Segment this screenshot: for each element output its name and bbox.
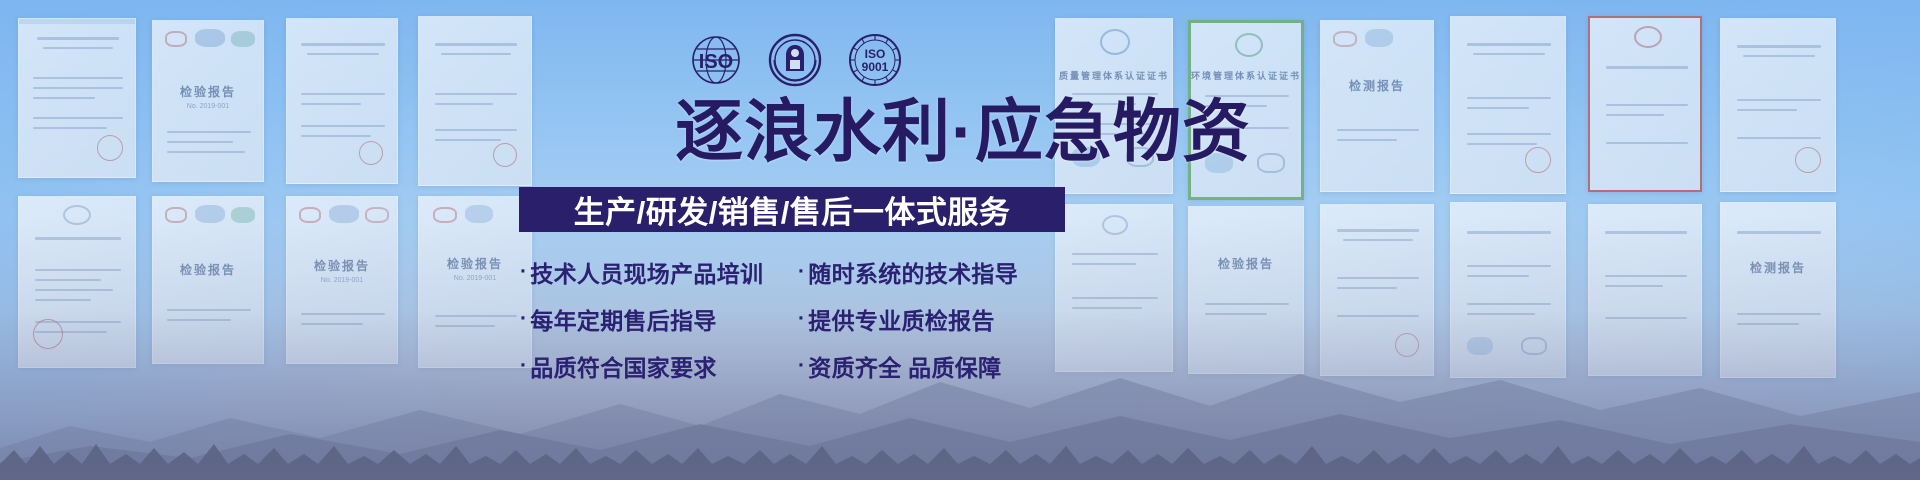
bullet-icon: ·	[798, 354, 805, 378]
iso-globe-badge: ISO	[690, 34, 742, 86]
bullet-icon: ·	[520, 260, 527, 284]
page-title: 逐浪水利·应急物资	[0, 98, 1920, 166]
service-subtitle-text: 生产/研发/销售/售后一体式服务	[574, 187, 1011, 232]
feature-item: · 随时系统的技术指导	[798, 248, 1080, 295]
bullet-icon: ·	[520, 307, 527, 331]
feature-list: · 技术人员现场产品培训 · 随时系统的技术指导 · 每年定期售后指导 · 提供…	[520, 248, 1080, 389]
bullet-icon: ·	[798, 307, 805, 331]
svg-text:ISO: ISO	[865, 47, 886, 61]
feature-item: · 提供专业质检报告	[798, 295, 1080, 342]
iso-badge-label: ISO	[699, 51, 733, 73]
iso-9001-seal-badge: ISO 9001	[848, 33, 902, 87]
feature-item-label: 提供专业质检报告	[808, 302, 994, 336]
bullet-icon: ·	[798, 260, 805, 284]
promo-banner: 检验报告 No. 2019-001	[0, 0, 1920, 480]
page-title-text: 逐浪水利·应急物资	[669, 98, 1251, 166]
feature-item-label: 资质齐全 品质保障	[808, 349, 1001, 383]
feature-item: · 品质符合国家要求	[520, 342, 798, 389]
banner-content: ISO	[0, 0, 1920, 480]
feature-item: · 技术人员现场产品培训	[520, 248, 798, 295]
feature-item-label: 技术人员现场产品培训	[530, 255, 763, 289]
certification-badges: ISO	[690, 33, 902, 87]
bullet-icon: ·	[520, 354, 527, 378]
service-subtitle-bar: 生产/研发/销售/售后一体式服务	[519, 187, 1065, 232]
feature-item-label: 品质符合国家要求	[530, 349, 716, 383]
svg-text:9001: 9001	[862, 60, 889, 74]
feature-item: · 资质齐全 品质保障	[798, 342, 1080, 389]
feature-item-label: 每年定期售后指导	[530, 302, 716, 336]
feature-item: · 每年定期售后指导	[520, 295, 798, 342]
certification-emblem-badge	[768, 33, 822, 87]
feature-item-label: 随时系统的技术指导	[808, 255, 1018, 289]
